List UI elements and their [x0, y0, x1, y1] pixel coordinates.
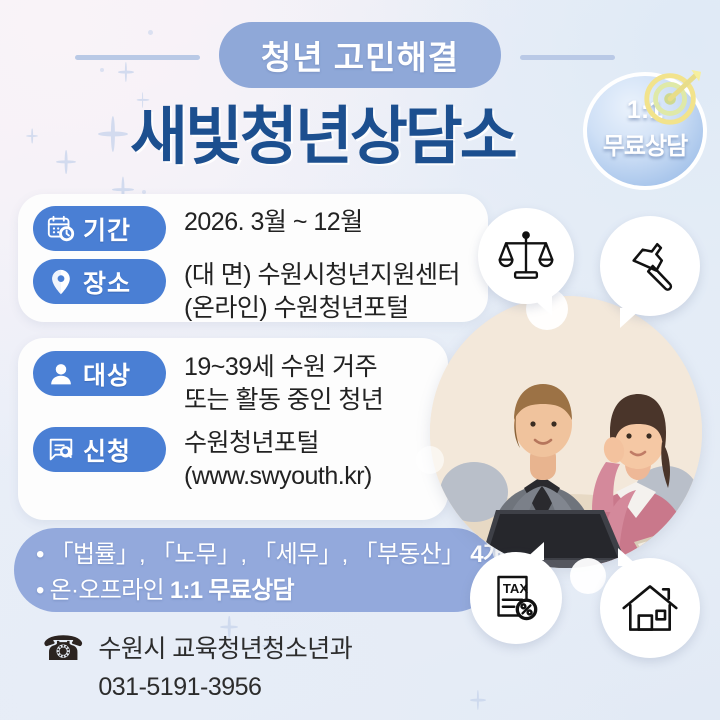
calendar-clock-icon [46, 214, 76, 244]
label-pill-period: 기간 [33, 206, 166, 251]
dot-decoration [100, 68, 104, 72]
house-icon [620, 578, 680, 638]
map-pin-icon [46, 267, 76, 297]
label-text-period: 기간 [83, 211, 131, 247]
tax-document-icon: TAX [488, 570, 544, 626]
divider-line-left [75, 55, 200, 60]
highlight-bullet-1: • 「법률」, 「노무」, 「세무」, 「부동산」 4개 분야 [36, 537, 496, 573]
topic-bubble-tax: TAX [470, 552, 562, 644]
sparkle-decoration [26, 128, 38, 143]
info-card-schedule: 기간 2026. 3월 ~ 12월 장소 (대 면) 수원시청년지원센터 (온라… [18, 194, 488, 322]
topic-bubble-realestate [600, 558, 700, 658]
info-value-apply: 수원청년포털 (www.swyouth.kr) [166, 427, 372, 493]
decorative-bubble [570, 558, 606, 594]
target-dartboard-icon [641, 66, 703, 128]
page-title-text: 새빛청년상담소 [130, 86, 515, 177]
footer-phone-number: 031-5191-3956 [98, 668, 352, 706]
hammer-icon [621, 237, 679, 295]
consultation-illustration [430, 296, 720, 586]
highlight-1-prefix: 「법률」, 「노무」, 「세무」, 「부동산」 [50, 541, 471, 568]
highlights-panel: • 「법률」, 「노무」, 「세무」, 「부동산」 4개 분야 • 온·오프라인… [14, 528, 496, 612]
apply-line-1: 수원청년포털 [184, 427, 372, 460]
topic-bubble-labor [600, 216, 700, 316]
target-line-2: 또는 활동 중인 청년 [184, 384, 383, 417]
info-card-eligibility: 대상 19~39세 수원 거주 또는 활동 중인 청년 신청 수원청년포털 [18, 338, 448, 520]
footer-department: 수원시 교육청년청소년과 [98, 630, 352, 668]
info-row-location: 장소 (대 면) 수원시청년지원센터 (온라인) 수원청년포털 [33, 259, 488, 325]
label-pill-location: 장소 [33, 259, 166, 304]
label-text-apply: 신청 [83, 432, 131, 468]
info-value-target: 19~39세 수원 거주 또는 활동 중인 청년 [166, 351, 383, 417]
dot-decoration [148, 30, 153, 35]
divider-line-right [520, 55, 615, 60]
target-line-1: 19~39세 수원 거주 [184, 351, 383, 384]
info-value-period: 2026. 3월 ~ 12월 [166, 206, 363, 239]
label-text-location: 장소 [83, 264, 131, 300]
illustration-photo [430, 296, 702, 568]
tagline-text: 청년 고민해결 [261, 31, 459, 79]
label-pill-apply: 신청 [33, 427, 166, 472]
apply-line-2: (www.swyouth.kr) [184, 460, 372, 493]
footer-contact: ☎ 수원시 교육청년청소년과 031-5191-3956 [42, 630, 352, 706]
location-line-1: (대 면) 수원시청년지원센터 [184, 259, 460, 292]
topic-bubble-law [478, 208, 574, 304]
highlight-2-prefix: 온·오프라인 [50, 577, 170, 604]
page-title: 새빛청년상담소 [130, 92, 600, 170]
svg-text:TAX: TAX [503, 581, 529, 596]
label-pill-target: 대상 [33, 351, 166, 396]
sparkle-decoration [98, 116, 128, 152]
info-row-apply: 신청 수원청년포털 (www.swyouth.kr) [33, 427, 448, 493]
info-row-period: 기간 2026. 3월 ~ 12월 [33, 206, 488, 251]
sparkle-decoration [118, 62, 134, 82]
telephone-icon: ☎ [42, 630, 84, 668]
highlight-2-bold: 1:1 무료상담 [170, 577, 294, 604]
location-line-2: (온라인) 수원청년포털 [184, 292, 460, 325]
label-text-target: 대상 [83, 356, 131, 392]
highlight-bullet-2: • 온·오프라인 1:1 무료상담 [36, 573, 496, 609]
illustration-art [430, 296, 702, 568]
sparkle-decoration [470, 690, 486, 710]
person-icon [46, 359, 76, 389]
info-value-location: (대 면) 수원시청년지원센터 (온라인) 수원청년포털 [166, 259, 460, 325]
period-line-1: 2026. 3월 ~ 12월 [184, 206, 363, 239]
info-row-target: 대상 19~39세 수원 거주 또는 활동 중인 청년 [33, 351, 448, 417]
document-search-icon [46, 435, 76, 465]
decorative-bubble [416, 446, 444, 474]
tagline-badge: 청년 고민해결 [219, 22, 501, 88]
scales-of-justice-icon [497, 227, 555, 285]
sparkle-decoration [56, 150, 76, 174]
badge-free-text: 무료상담 [581, 126, 709, 161]
poster-root: 청년 고민해결 새빛청년상담소 1:1 무료상담 [0, 0, 720, 720]
